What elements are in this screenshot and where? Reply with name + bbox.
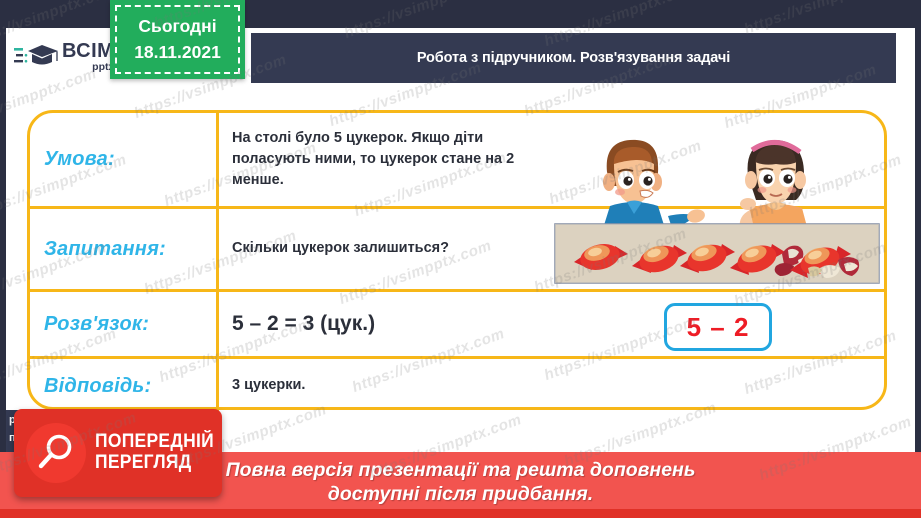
table-row-label: Розв'язок:: [30, 292, 216, 356]
table-row: На столі було 5 цукерок. Якщо діти полас…: [220, 113, 550, 206]
table-row-label: Відповідь:: [30, 359, 216, 413]
page-title: Робота з підручником. Розв'язування зада…: [251, 50, 896, 66]
date-tag: Сьогодні 18.11.2021: [110, 0, 245, 79]
date-tag-date: 18.11.2021: [134, 40, 221, 65]
table-vertical-divider: [216, 113, 219, 413]
magnifier-icon: [26, 423, 86, 483]
brand-logo[interactable]: ВСІМ pptx: [6, 28, 126, 86]
date-tag-label: Сьогодні: [138, 14, 216, 39]
row-label-condition: Умова:: [44, 148, 115, 171]
row-content-condition: На столі було 5 цукерок. Якщо діти полас…: [232, 128, 550, 191]
row-label-answer: Відповідь:: [44, 375, 151, 398]
formula-text: 5 – 2: [687, 312, 750, 343]
row-label-solution: Розв'язок:: [44, 313, 149, 336]
header-bar: Робота з підручником. Розв'язування зада…: [251, 33, 896, 83]
graduation-cap-icon: [14, 40, 60, 74]
row-content-answer: 3 цукерки.: [232, 375, 305, 396]
row-content-question: Скільки цукерок залишиться?: [232, 238, 449, 259]
table-row-label: Умова:: [30, 113, 216, 206]
badge-line-1: ПОПЕРЕДНІЙ: [95, 432, 214, 453]
candy-table: [555, 224, 879, 283]
badge-line-2: ПЕРЕГЛЯД: [95, 453, 214, 474]
row-label-question: Запитання:: [44, 238, 166, 261]
slide: Робота з підручником. Розв'язування зада…: [0, 0, 921, 518]
logo-name: ВСІМ: [62, 41, 114, 61]
banner-line-1: Повна версія презентації та решта доповн…: [226, 458, 696, 482]
logo-sub: pptx: [62, 62, 114, 73]
table-row: 3 цукерки.: [220, 359, 550, 413]
table-row-label: Запитання:: [30, 209, 216, 289]
two-children-with-candies-illustration: [552, 120, 882, 285]
banner-line-2: доступні після придбання.: [226, 482, 696, 506]
row-content-solution: 5 – 2 = 3 (цук.): [232, 312, 375, 336]
table-row: 5 – 2 = 3 (цук.): [220, 292, 550, 356]
table-row: Скільки цукерок залишиться?: [220, 209, 550, 289]
preview-badge[interactable]: ПОПЕРЕДНІЙ ПЕРЕГЛЯД: [14, 409, 222, 497]
formula-box: 5 – 2: [664, 303, 772, 351]
